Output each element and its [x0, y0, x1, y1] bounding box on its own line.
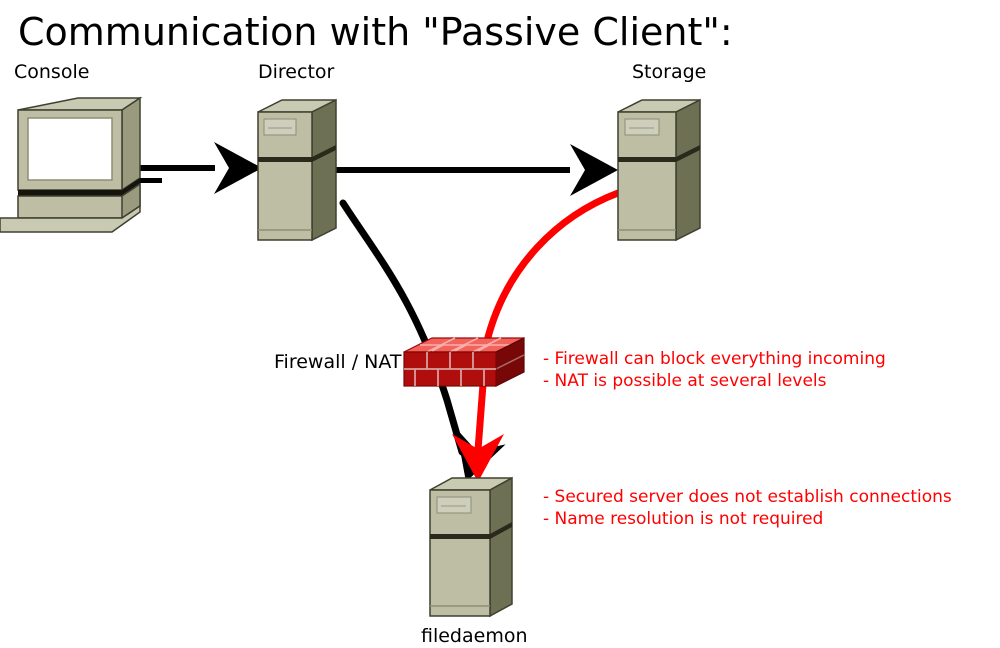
node-console[interactable]: [0, 98, 162, 232]
arrowhead-icon: [214, 142, 262, 194]
connection-director-to-storage: [328, 144, 618, 196]
drive-bay-icon: [437, 497, 471, 513]
node-label-firewall: Firewall / NAT: [274, 351, 402, 373]
drive-bay-icon: [625, 119, 659, 135]
node-storage[interactable]: [618, 100, 700, 240]
page-title: Communication with "Passive Client":: [18, 10, 733, 54]
arrowhead-icon: [570, 144, 618, 196]
node-label-storage: Storage: [632, 61, 706, 83]
annotation-line: - Secured server does not establish conn…: [543, 487, 952, 507]
node-label-console: Console: [14, 61, 89, 83]
node-label-filedaemon: filedaemon: [421, 625, 528, 647]
annotation-line: - NAT is possible at several levels: [543, 371, 827, 391]
annotation-line: - Firewall can block everything incoming: [543, 349, 886, 369]
annotation-line: - Name resolution is not required: [543, 509, 823, 529]
node-label-director: Director: [258, 61, 335, 83]
node-director[interactable]: [258, 100, 336, 240]
drive-bay-icon: [264, 119, 296, 135]
node-filedaemon[interactable]: [430, 478, 512, 616]
node-firewall[interactable]: [404, 338, 524, 386]
annotation-filedaemon-notes: - Secured server does not establish conn…: [543, 487, 952, 529]
annotation-firewall-notes: - Firewall can block everything incoming…: [543, 349, 886, 391]
diagram-canvas: Communication with "Passive Client": Con…: [0, 0, 1000, 648]
monitor-screen: [28, 118, 112, 180]
